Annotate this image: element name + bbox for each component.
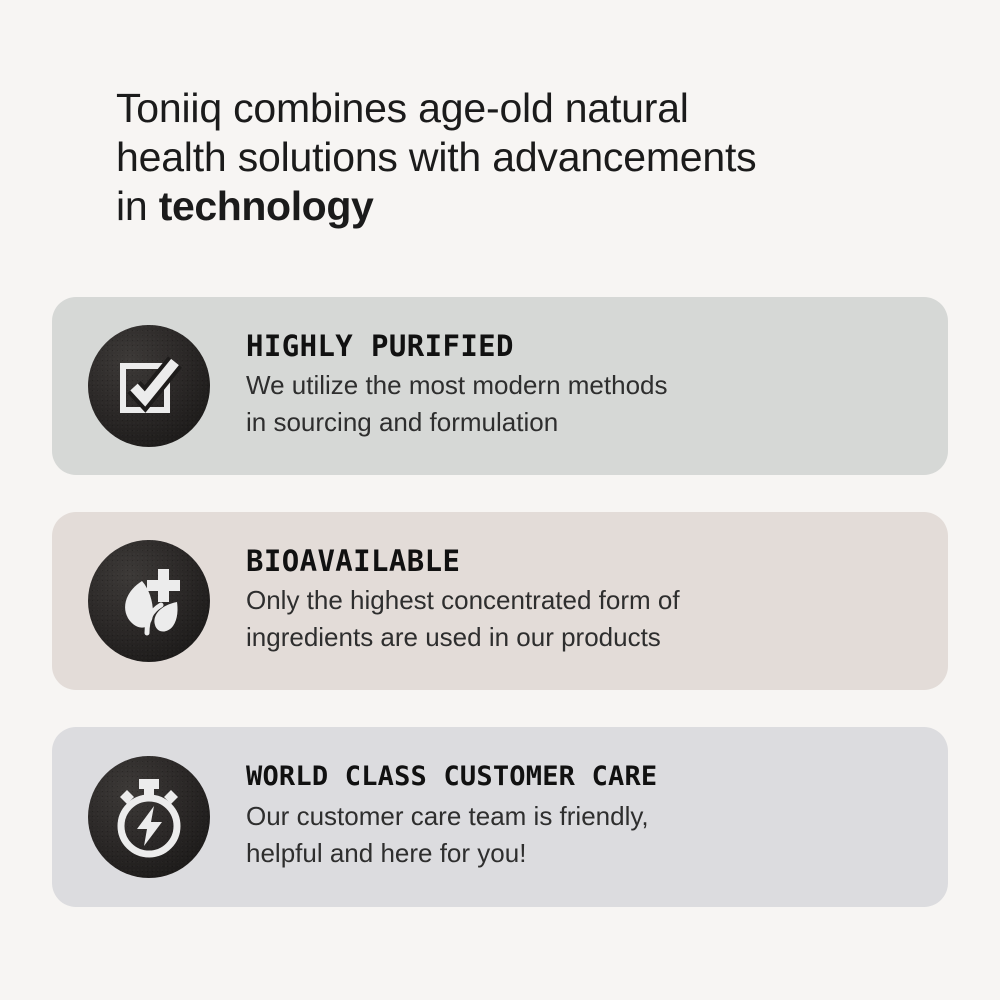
feature-card-highly-purified[interactable]: HIGHLY PURIFIED We utilize the most mode… xyxy=(52,297,948,475)
feature-card-world-class-customer-care[interactable]: WORLD CLASS CUSTOMER CARE Our customer c… xyxy=(52,727,948,907)
feature-card-description: We utilize the most modern methods in so… xyxy=(246,367,667,441)
feature-card-title: BIOAVAILABLE xyxy=(246,544,680,578)
stopwatch-bolt-icon xyxy=(88,756,210,878)
feature-card-title: HIGHLY PURIFIED xyxy=(246,329,667,363)
feature-card-description: Only the highest concentrated form of in… xyxy=(246,582,680,656)
checkbox-check-icon xyxy=(88,325,210,447)
headline-line-1: Toniiq combines age-old natural xyxy=(116,85,689,131)
feature-card-text: WORLD CLASS CUSTOMER CARE Our customer c… xyxy=(246,760,657,874)
feature-card-text: HIGHLY PURIFIED We utilize the most mode… xyxy=(246,329,667,443)
headline-emphasis: technology xyxy=(159,183,374,229)
feature-card-bioavailable[interactable]: BIOAVAILABLE Only the highest concentrat… xyxy=(52,512,948,690)
leaf-plus-icon xyxy=(88,540,210,662)
feature-card-text: BIOAVAILABLE Only the highest concentrat… xyxy=(246,544,680,658)
headline-line-3-prefix: in xyxy=(116,183,159,229)
feature-card-title: WORLD CLASS CUSTOMER CARE xyxy=(246,760,657,794)
feature-card-description: Our customer care team is friendly, help… xyxy=(246,798,657,872)
page-headline: Toniiq combines age-old natural health s… xyxy=(116,84,876,231)
feature-card-list: HIGHLY PURIFIED We utilize the most mode… xyxy=(52,297,948,907)
headline-line-2: health solutions with advancements xyxy=(116,134,756,180)
